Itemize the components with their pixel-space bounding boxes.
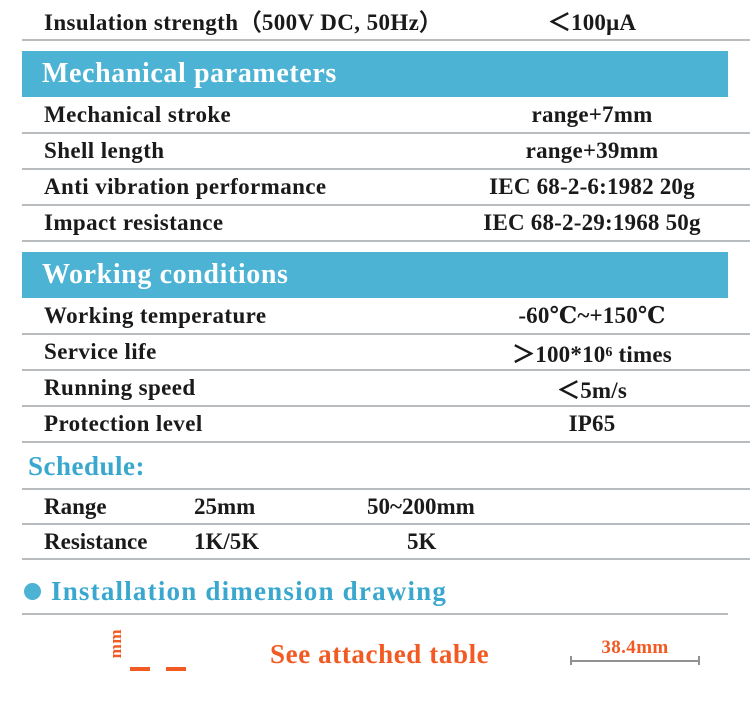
row-label: Running speed (22, 370, 434, 406)
table-row: Shell length range+39mm (22, 133, 750, 169)
filled-circle-icon (24, 583, 41, 600)
section-header-mechanical-parameters: Mechanical parameters (22, 51, 728, 97)
row-value: IP65 (434, 406, 750, 442)
vertical-dimension-label: mm (106, 629, 126, 658)
table-row: Running speed ＜5m/s (22, 370, 750, 406)
table-row: Resistance 1K/5K 5K (22, 524, 750, 559)
row-value: ＞100*10⁶ times (434, 334, 750, 370)
row-value: ＜5m/s (434, 370, 750, 406)
installation-dimension-drawing-heading: Installation dimension drawing (22, 560, 728, 611)
table-row: Impact resistance IEC 68-2-29:1968 50g (22, 205, 750, 241)
dimension-line (570, 660, 700, 662)
row-value: range+7mm (434, 97, 750, 133)
row-value: IEC 68-2-29:1968 50g (434, 205, 750, 241)
table-row: Anti vibration performance IEC 68-2-6:19… (22, 169, 750, 205)
drawing-mark (166, 667, 186, 671)
installation-drawing-area: mm See attached table 38.4mm (22, 615, 728, 685)
dimension-annotation: 38.4mm (570, 637, 700, 662)
working-conditions-table: Working temperature -60℃~+150℃ Service l… (22, 298, 750, 443)
mechanical-parameters-table: Mechanical stroke range+7mm Shell length… (22, 97, 750, 242)
row-label: Resistance (22, 524, 194, 559)
drawing-mark (130, 667, 150, 671)
drawing-marks (130, 667, 186, 671)
table-row: Working temperature -60℃~+150℃ (22, 298, 750, 334)
row-label: Service life (22, 334, 434, 370)
table-row: Protection level IP65 (22, 406, 750, 442)
insulation-strength-table: Insulation strength（500V DC, 50Hz） ＜100μ… (22, 0, 750, 41)
table-row: Mechanical stroke range+7mm (22, 97, 750, 133)
schedule-table: Range 25mm 50~200mm Resistance 1K/5K 5K (22, 488, 750, 560)
schedule-heading: Schedule: (22, 443, 728, 488)
table-row: Insulation strength（500V DC, 50Hz） ＜100μ… (22, 0, 750, 40)
row-label: Working temperature (22, 298, 434, 334)
row-value-small: 1K/5K (194, 524, 349, 559)
row-value-large: 50~200mm (349, 489, 750, 524)
spec-sheet-page: Insulation strength（500V DC, 50Hz） ＜100μ… (0, 0, 750, 713)
row-value: ＜100μA (434, 0, 750, 40)
row-value-small: 25mm (194, 489, 349, 524)
row-value: IEC 68-2-6:1982 20g (434, 169, 750, 205)
installation-heading-text: Installation dimension drawing (51, 576, 447, 607)
dimension-label: 38.4mm (570, 637, 700, 659)
table-row: Service life ＞100*10⁶ times (22, 334, 750, 370)
row-label: Protection level (22, 406, 434, 442)
section-header-working-conditions: Working conditions (22, 252, 728, 298)
section-title: Working conditions (42, 259, 289, 291)
row-value: -60℃~+150℃ (434, 298, 750, 334)
row-label: Insulation strength（500V DC, 50Hz） (22, 0, 434, 40)
row-value-large: 5K (349, 524, 750, 559)
row-label: Anti vibration performance (22, 169, 434, 205)
row-value: range+39mm (434, 133, 750, 169)
row-label: Mechanical stroke (22, 97, 434, 133)
section-title: Mechanical parameters (42, 58, 337, 90)
table-row: Range 25mm 50~200mm (22, 489, 750, 524)
see-attached-table-note: See attached table (270, 639, 489, 670)
row-label: Shell length (22, 133, 434, 169)
row-label: Range (22, 489, 194, 524)
row-label: Impact resistance (22, 205, 434, 241)
